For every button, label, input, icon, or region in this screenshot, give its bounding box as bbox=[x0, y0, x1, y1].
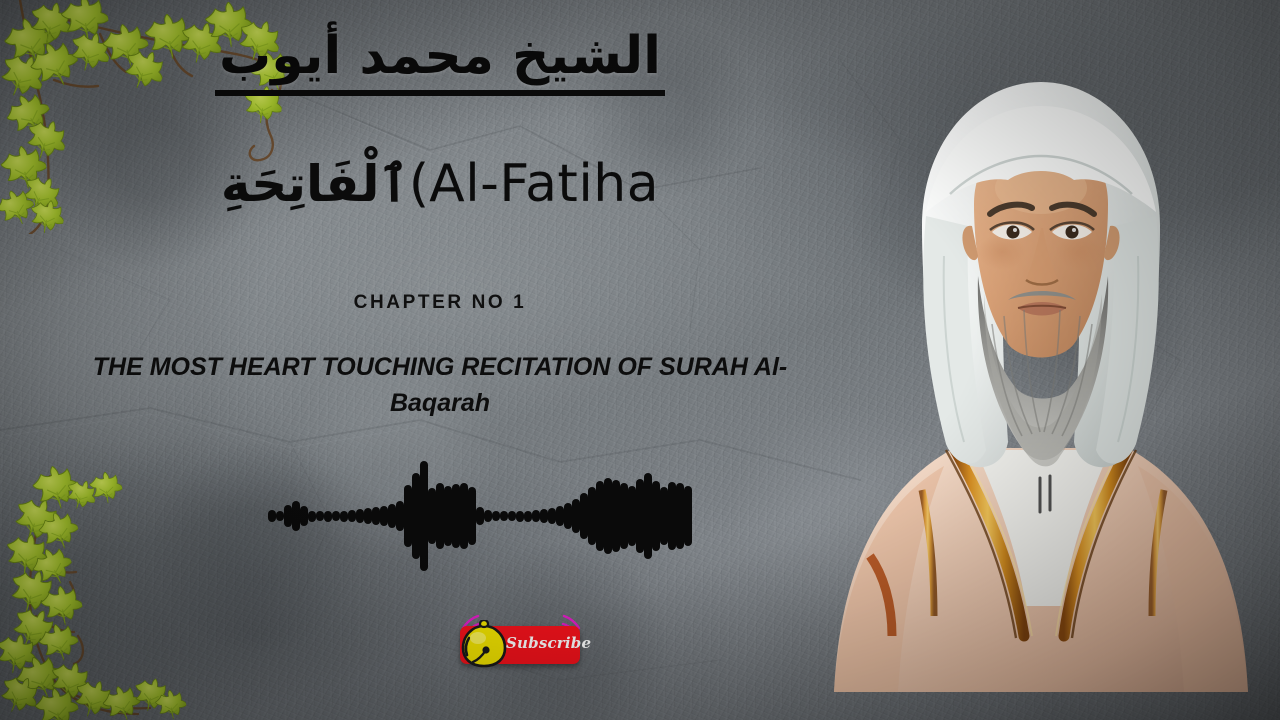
background-vignette bbox=[0, 0, 1280, 720]
video-thumbnail: الشيخ محمد أيوب ٱلْفَاتِحَةِ(Al-Fatiha C… bbox=[0, 0, 1280, 720]
